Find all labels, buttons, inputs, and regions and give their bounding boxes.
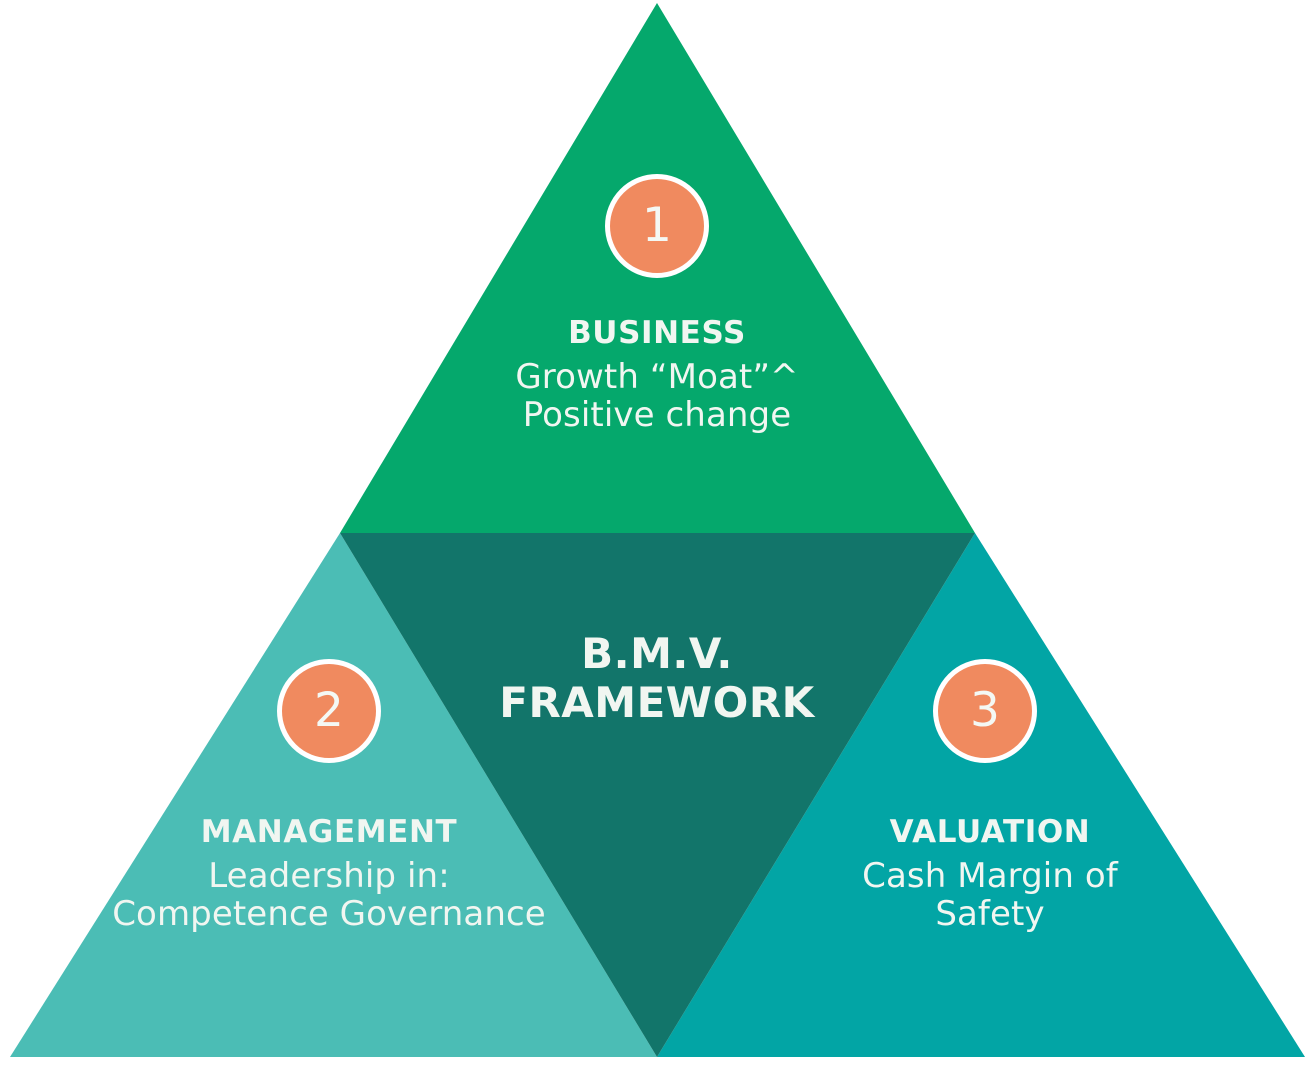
center-label-line-1: B.M.V. (417, 629, 897, 678)
segment-business-subtitle: Growth “Moat”^ Positive change (357, 358, 957, 434)
badge-number-1-label: 1 (642, 202, 672, 249)
segment-valuation-subtitle-line-1: Cash Margin of (690, 857, 1290, 895)
segment-business-text: BUSINESS Growth “Moat”^ Positive change (357, 316, 957, 434)
segment-management-subtitle: Leadership in: Competence Governance (29, 857, 629, 933)
segment-management-title: MANAGEMENT (29, 815, 629, 850)
segment-business-subtitle-line-1: Growth “Moat”^ (357, 358, 957, 396)
badge-number-3[interactable]: 3 (933, 659, 1037, 763)
segment-management-subtitle-line-2: Competence Governance (29, 895, 629, 933)
bmv-framework-diagram: BUSINESS Growth “Moat”^ Positive change … (0, 0, 1314, 1065)
segment-valuation-title: VALUATION (690, 815, 1290, 850)
segment-management-subtitle-line-1: Leadership in: (29, 857, 629, 895)
segment-valuation-subtitle-line-2: Safety (690, 895, 1290, 933)
segment-business-subtitle-line-2: Positive change (357, 396, 957, 434)
badge-number-1[interactable]: 1 (605, 174, 709, 278)
segment-valuation-text: VALUATION Cash Margin of Safety (690, 815, 1290, 933)
segment-valuation-subtitle: Cash Margin of Safety (690, 857, 1290, 933)
badge-number-3-label: 3 (970, 687, 1000, 734)
segment-business-title: BUSINESS (357, 316, 957, 351)
badge-number-2-label: 2 (314, 687, 344, 734)
center-framework-label: B.M.V. FRAMEWORK (417, 629, 897, 727)
center-label-line-2: FRAMEWORK (417, 678, 897, 727)
segment-management-text: MANAGEMENT Leadership in: Competence Gov… (29, 815, 629, 933)
badge-number-2[interactable]: 2 (277, 659, 381, 763)
